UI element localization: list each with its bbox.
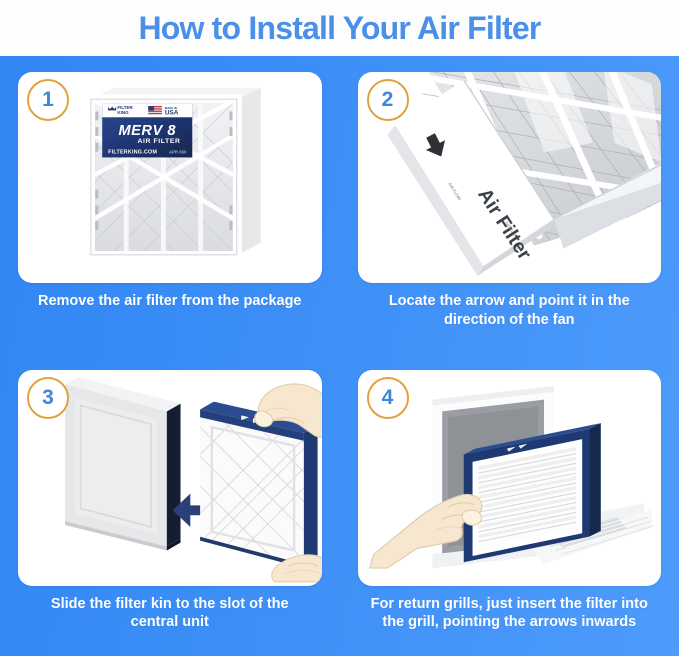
apr-rating-text: APR 650: [169, 150, 187, 155]
step-cell-4: 4 For return grills, just insert the fil…: [340, 354, 679, 656]
step-card-2: AIR FLOW Air Filter MERV 8 2: [358, 72, 662, 283]
step-badge-1: 1: [27, 79, 69, 121]
step-number-1: 1: [42, 89, 54, 110]
step-cell-1: FILTER KING MADE IN USA: [0, 56, 340, 354]
step-card-4: 4: [358, 370, 662, 586]
step-caption-1: Remove the air filter from the package: [18, 283, 322, 311]
step-badge-2: 2: [367, 79, 409, 121]
step-badge-4: 4: [367, 377, 409, 419]
step-card-1: FILTER KING MADE IN USA: [18, 72, 322, 283]
step-badge-3: 3: [27, 377, 69, 419]
steps-grid: FILTER KING MADE IN USA: [0, 56, 679, 656]
step-caption-4: For return grills, just insert the filte…: [358, 586, 662, 632]
page-title: How to Install Your Air Filter: [138, 12, 540, 44]
air-filter-subtitle-text: AIR FILTER: [138, 138, 181, 145]
step-cell-2: AIR FLOW Air Filter MERV 8 2 Locate the …: [340, 56, 679, 354]
brand-king-text: KING: [117, 110, 129, 115]
merv-rating-text: MERV 8: [118, 123, 176, 139]
usa-text: USA: [165, 109, 179, 116]
step-number-3: 3: [42, 387, 54, 408]
step-number-4: 4: [382, 387, 394, 408]
header-band: How to Install Your Air Filter: [0, 0, 679, 56]
step-caption-3: Slide the filter kin to the slot of the …: [18, 586, 322, 632]
step-cell-3: 3 Slide the filter kin to the slot of th…: [0, 354, 340, 656]
step-number-2: 2: [382, 89, 394, 110]
website-text: FILTERKING.COM: [108, 150, 157, 156]
infographic-page: How to Install Your Air Filter: [0, 0, 679, 656]
step-card-3: 3: [18, 370, 322, 586]
step-caption-2: Locate the arrow and point it in the dir…: [358, 283, 662, 329]
